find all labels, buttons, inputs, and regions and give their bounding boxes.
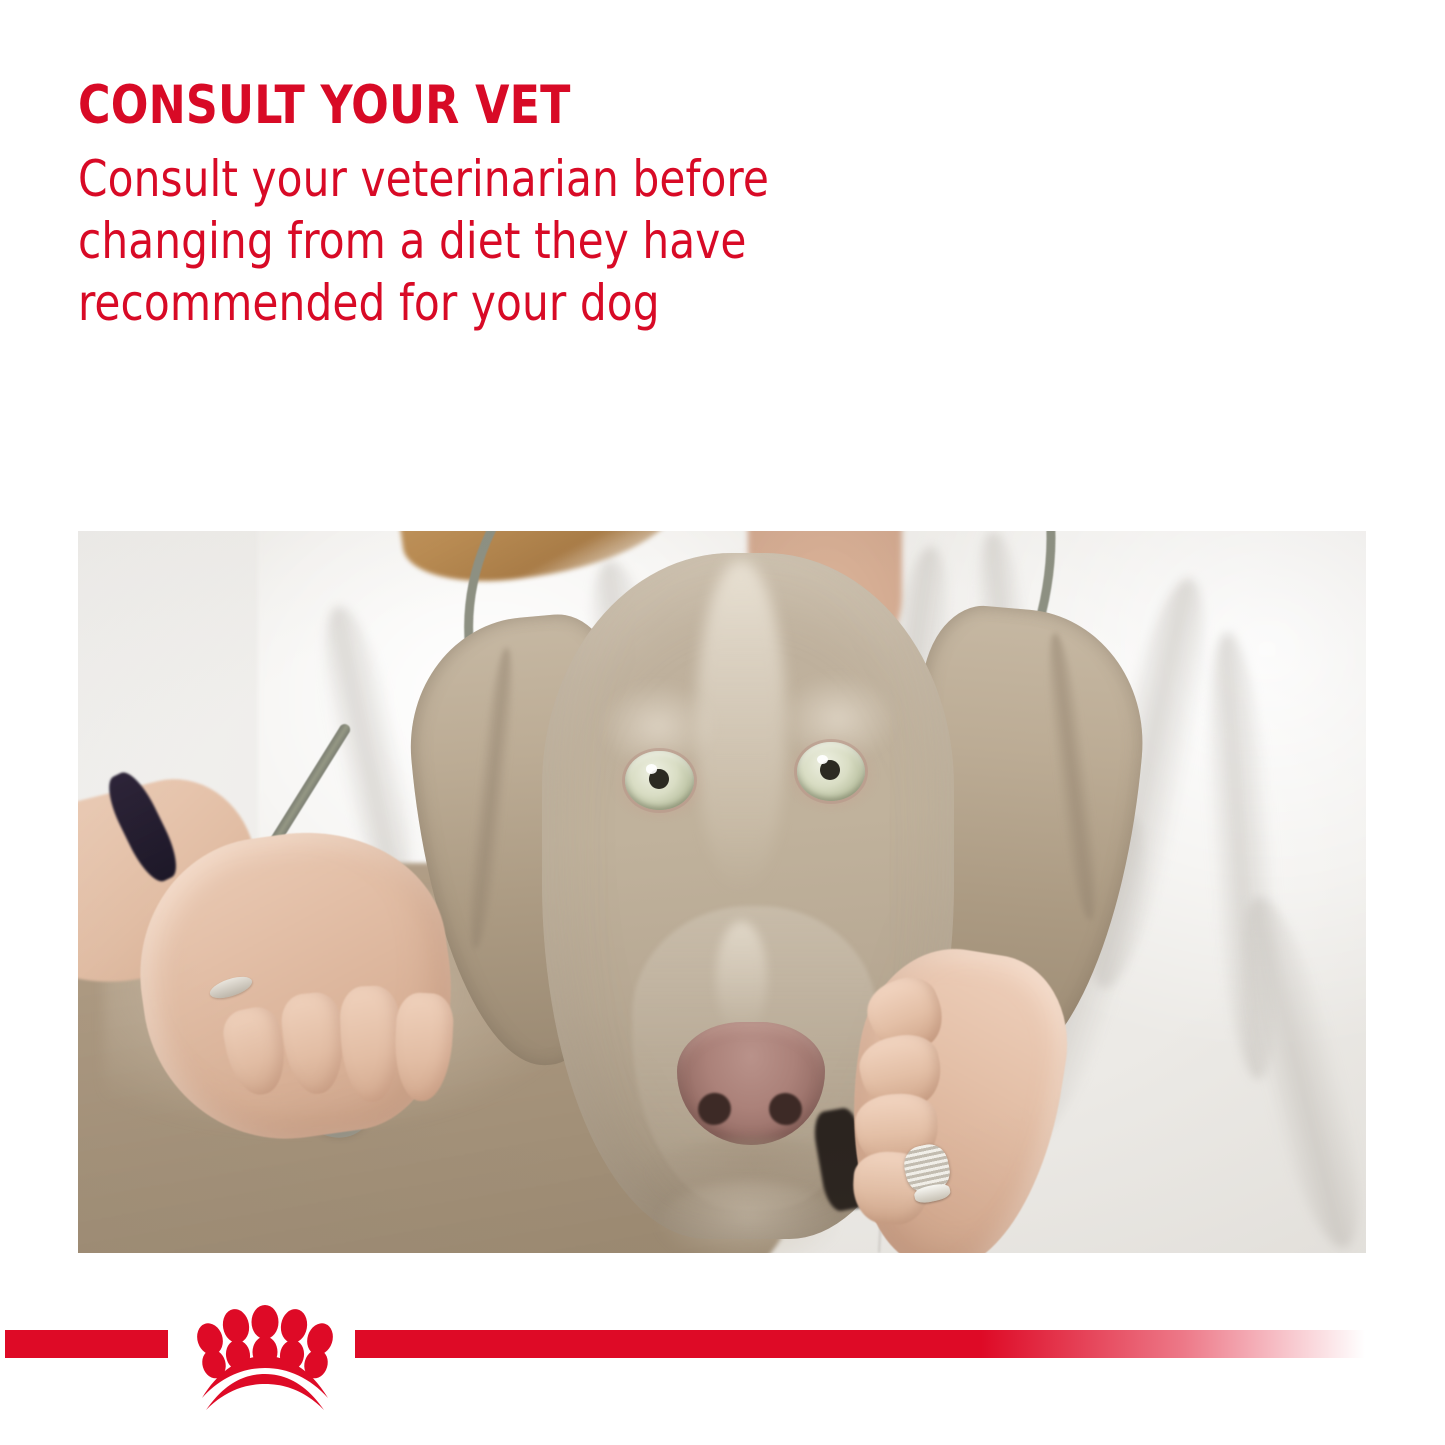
dog-nose-bridge-highlight (716, 921, 768, 1037)
page-title: CONSULT YOUR VET (78, 78, 915, 134)
royal-canin-crown-icon (190, 1298, 340, 1410)
dog-eye-right (797, 742, 865, 801)
photo-composition (78, 531, 1366, 1253)
dog-nostril (694, 1089, 735, 1129)
body-paragraph: Consult your veterinarian before changin… (78, 148, 924, 334)
text-block: CONSULT YOUR VET Consult your veterinari… (78, 78, 978, 334)
footer-bar-right (355, 1330, 1365, 1358)
dog-eye-glint (646, 764, 657, 773)
dog-eye-left (625, 751, 693, 810)
vet-dog-photo (78, 531, 1366, 1253)
footer-brand-bar (0, 1330, 1445, 1445)
poster-page: CONSULT YOUR VET Consult your veterinari… (0, 0, 1445, 1445)
dog-nostril (765, 1089, 806, 1129)
footer-bar-left (5, 1330, 168, 1358)
